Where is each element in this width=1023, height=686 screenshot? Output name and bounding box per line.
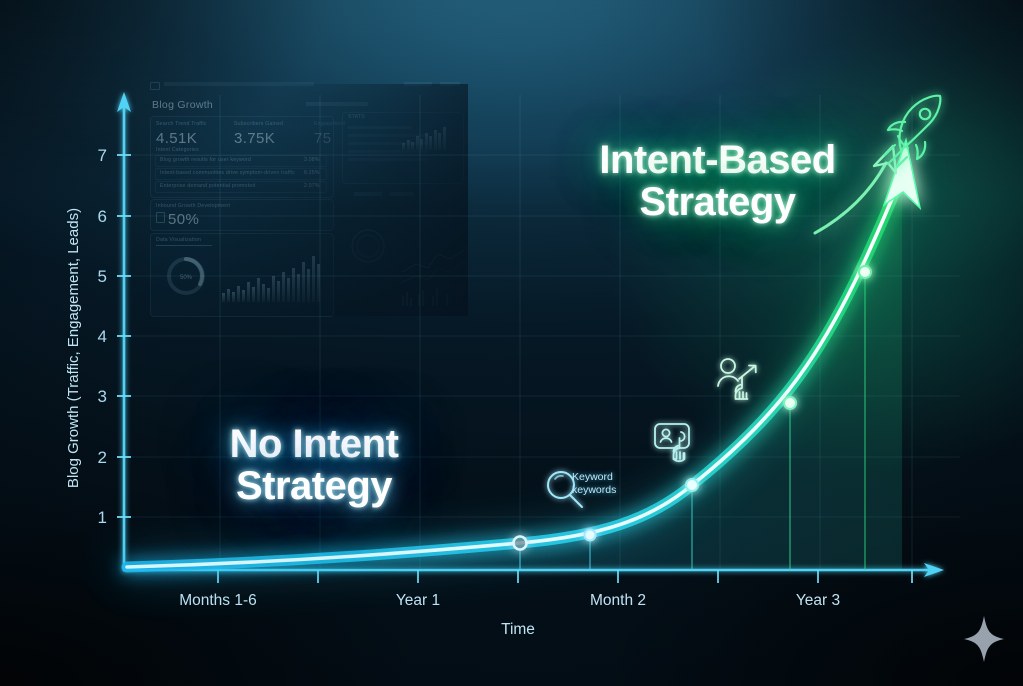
chart-canvas: Blog Growth Search Trend Traffic 4.51K S… [0, 0, 1023, 686]
film-grain-overlay [0, 0, 1023, 686]
